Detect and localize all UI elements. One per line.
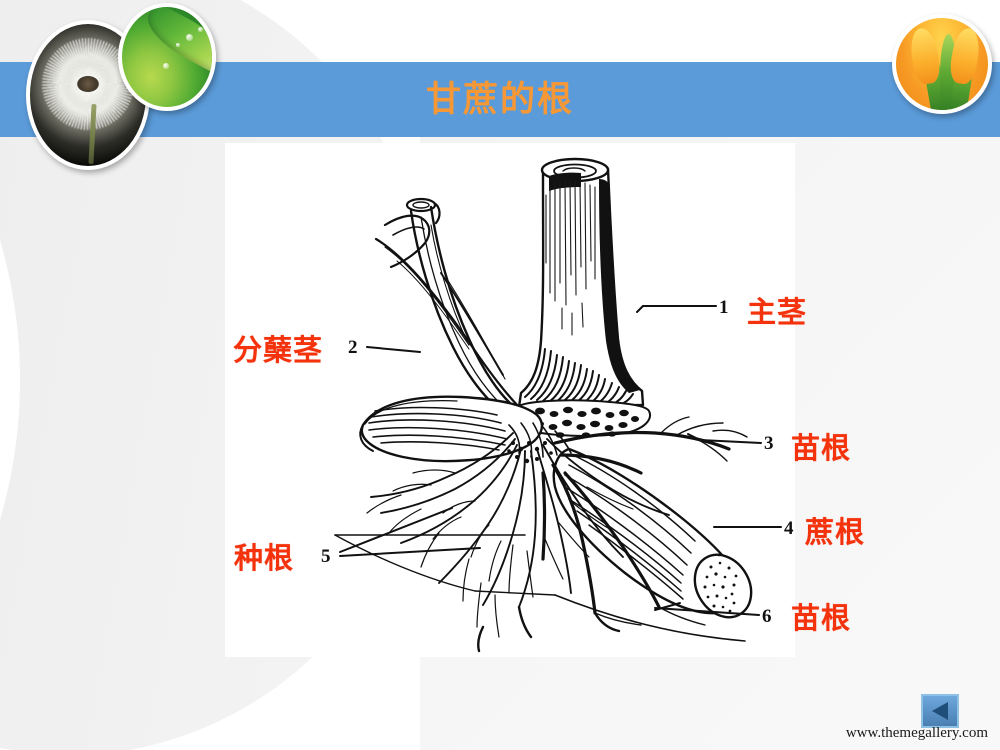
label-number-6: 6 [762, 606, 772, 628]
footer-url: www.themegallery.com [846, 725, 988, 742]
tulip-petal-icon [948, 26, 982, 85]
slide-canvas: 甘蔗的根 [0, 0, 1000, 750]
dew-drop-icon [176, 43, 180, 47]
dandelion-core-icon [77, 76, 99, 92]
label-shoot-root-2: 苗根 [791, 595, 851, 637]
label-number-1: 1 [719, 297, 729, 319]
tulip-petal-icon [908, 26, 942, 85]
dew-drop-icon [198, 27, 203, 32]
label-number-5: 5 [321, 546, 331, 568]
tulip-photo [892, 14, 992, 114]
label-shoot-root-1: 苗根 [791, 425, 851, 467]
label-number-2: 2 [348, 337, 358, 359]
label-seed-root: 种根 [234, 535, 294, 577]
label-tiller-stem: 分蘖茎 [233, 327, 323, 369]
back-arrow-icon [932, 702, 948, 720]
sugarcane-root-diagram [225, 143, 795, 657]
dew-drop-icon [163, 63, 169, 69]
label-number-3: 3 [764, 433, 774, 455]
dew-drop-icon [186, 34, 193, 41]
label-main-stem: 主茎 [747, 289, 807, 331]
label-number-4: 4 [784, 518, 794, 540]
leaf-photo [118, 3, 216, 111]
back-button[interactable] [921, 694, 959, 728]
label-cane-root: 蔗根 [805, 509, 865, 551]
